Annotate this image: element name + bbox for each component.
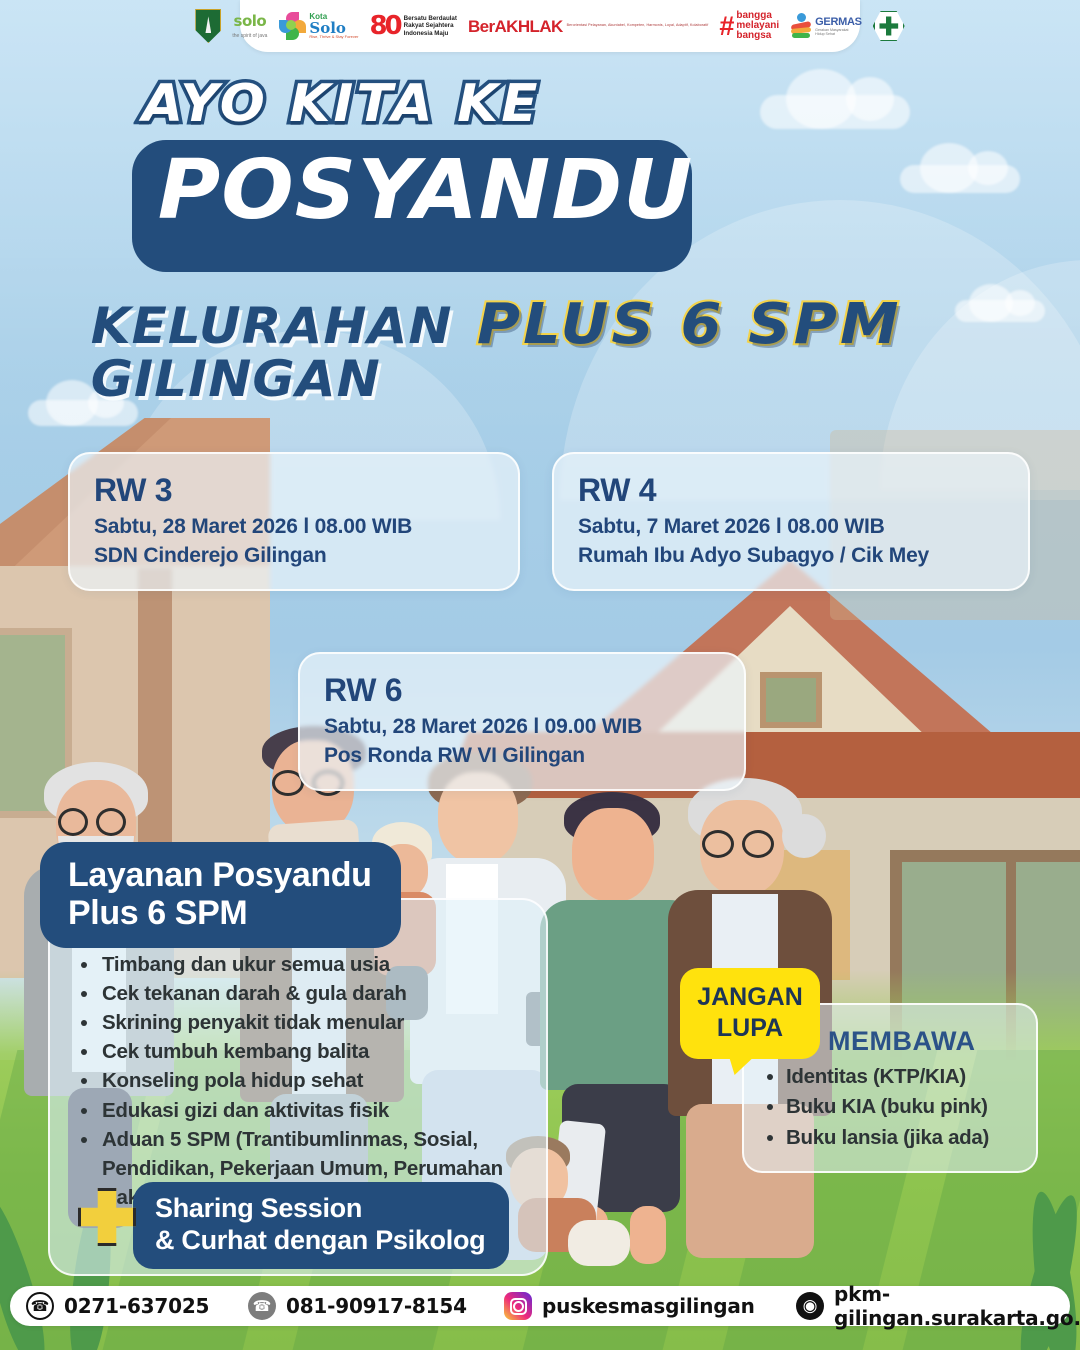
diaper-shape [568,1220,630,1266]
list-item: Buku lansia (jika ada) [786,1123,1042,1153]
germas-wordmark: GERMAS Gerakan Masyarakat Hidup Sehat [815,16,861,37]
hut-line-2: Rakyat Sejahtera [404,22,457,29]
cloud-icon [955,300,1045,322]
kelurahan-name: KELURAHAN GILINGAN [91,300,453,406]
sharing-session-banner: Sharing Session & Curhat dengan Psikolog [133,1182,509,1269]
germas-figure-icon [790,13,812,39]
cloud-icon [760,95,910,129]
phone-filled-icon: ☎ [248,1292,276,1320]
contact-website[interactable]: ◉ pkm-gilingan.surakarta.go.id [796,1282,1080,1330]
hair-bun-shape [782,814,826,858]
bangga-line-3: bangsa [736,31,779,41]
jangan-lupa-line-1: JANGAN [690,982,810,1013]
jangan-lupa-line-2: LUPA [690,1013,810,1044]
glasses-icon [58,808,88,836]
logo-bangga-melayani-bangsa: # bangga melayani bangsa [719,11,779,42]
logo-berakhlak: BerAKHLAK Berorientasi Pelayanan, Akunta… [468,18,708,35]
hashtag-icon: # [719,14,734,38]
schedule-location: Rumah Ibu Adyo Subagyo / Cik Mey [578,541,1004,571]
solo-tagline: the spirit of java [232,34,267,39]
list-item: Edukasi gizi dan aktivitas fisik [100,1096,536,1125]
bangga-wordmark: bangga melayani bangsa [736,11,779,42]
surakarta-emblem-icon [195,9,221,43]
contact-mobile[interactable]: ☎ 081-90917-8154 [248,1292,467,1320]
solo-wordmark: solo [234,12,267,30]
schedule-location: Pos Ronda RW VI Gilingan [324,741,720,771]
logo-germas: GERMAS Gerakan Masyarakat Hidup Sehat [790,13,861,39]
gable-window-shape [760,672,822,728]
germas-title: GERMAS [815,16,861,28]
logo-solo: solo the spirit of java [232,12,267,39]
glasses-icon [702,830,734,858]
schedule-card-rw6: RW 6 Sabtu, 28 Maret 2026 l 09.00 WIB Po… [298,652,746,791]
flower-icon [278,12,306,40]
cloud-icon [900,165,1020,193]
logo-puskesmas-cross [873,10,905,42]
list-item: Cek tekanan darah & gula darah [100,979,536,1008]
mobile-number: 081-90917-8154 [286,1294,467,1318]
list-item: Skrining penyakit tidak menular [100,1008,536,1037]
website-url: pkm-gilingan.surakarta.go.id [834,1282,1080,1330]
hut-line-1: Bersatu Berdaulat [404,15,457,22]
headline-subtitle: PLUS 6 SPM [477,292,902,357]
list-item: Buku KIA (buku pink) [786,1092,1042,1122]
berakhlak-wordmark: BerAKHLAK [468,18,563,35]
globe-icon: ◉ [796,1292,824,1320]
schedule-title: RW 6 [324,674,720,708]
schedule-datetime: Sabtu, 28 Maret 2026 l 09.00 WIB [324,712,720,742]
logo-hut-ri-80: 80 Bersatu Berdaulat Rakyat Sejahtera In… [369,13,457,39]
logo-kota-solo: Kota Solo Rise, Thrive & Stay Forever [278,12,358,40]
bring-items-list: Identitas (KTP/KIA) Buku KIA (buku pink)… [762,1062,1042,1153]
contact-instagram[interactable]: puskesmasgilingan [504,1292,755,1320]
landline-number: 0271-637025 [64,1294,209,1318]
instagram-handle: puskesmasgilingan [542,1294,755,1318]
list-item: Identitas (KTP/KIA) [786,1062,1042,1092]
hut-line-3: Indonesia Maju [404,30,457,37]
schedule-datetime: Sabtu, 7 Maret 2026 l 08.00 WIB [578,512,1004,542]
berakhlak-tagline: Berorientasi Pelayanan, Akuntabel, Kompe… [567,24,709,28]
solo-label: Solo [309,21,358,35]
schedule-card-rw3: RW 3 Sabtu, 28 Maret 2026 l 08.00 WIB SD… [68,452,520,591]
list-item: Cek tumbuh kembang balita [100,1037,536,1066]
jangan-lupa-badge: JANGAN LUPA [680,968,820,1059]
bring-title: MEMBAWA [828,1026,976,1057]
partner-logo-strip: solo the spirit of java Kota Solo Rise, … [240,0,860,52]
poster-canvas: solo the spirit of java Kota Solo Rise, … [0,0,1080,1350]
footer-contact-bar: ☎ 0271-637025 ☎ 081-90917-8154 puskesmas… [10,1286,1070,1326]
head-shape [572,808,654,902]
green-cross-icon [873,10,905,42]
contact-landline[interactable]: ☎ 0271-637025 [26,1292,209,1320]
logo-kota-surakarta-emblem [195,9,221,43]
schedule-card-rw4: RW 4 Sabtu, 7 Maret 2026 l 08.00 WIB Rum… [552,452,1030,591]
services-list: Timbang dan ukur semua usia Cek tekanan … [66,950,536,1212]
headline-pretitle: AYO KITA KE [142,74,540,134]
phone-outline-icon: ☎ [26,1292,54,1320]
schedule-title: RW 3 [94,474,494,508]
kota-solo-wordmark: Kota Solo Rise, Thrive & Stay Forever [309,13,358,39]
list-item: Konseling pola hidup sehat [100,1066,536,1095]
instagram-icon [504,1292,532,1320]
kelurahan-value: GILINGAN [91,353,453,406]
germas-sub-2: Hidup Sehat [815,32,861,36]
kota-solo-tagline: Rise, Thrive & Stay Forever [309,35,358,39]
headline-main-title: POSYANDU [158,150,694,232]
schedule-datetime: Sabtu, 28 Maret 2026 l 08.00 WIB [94,512,494,542]
kelurahan-label: KELURAHAN [91,300,453,353]
list-item: Timbang dan ukur semua usia [100,950,536,979]
glasses-icon [96,808,126,836]
plus-badge-icon [78,1188,136,1246]
services-heading: Layanan Posyandu Plus 6 SPM [40,842,401,948]
glasses-icon [742,830,774,858]
hut-ri-tagline: Bersatu Berdaulat Rakyat Sejahtera Indon… [404,15,457,37]
eighty-numeral: 80 [369,13,399,39]
schedule-location: SDN Cinderejo Gilingan [94,541,494,571]
schedule-title: RW 4 [578,474,1004,508]
